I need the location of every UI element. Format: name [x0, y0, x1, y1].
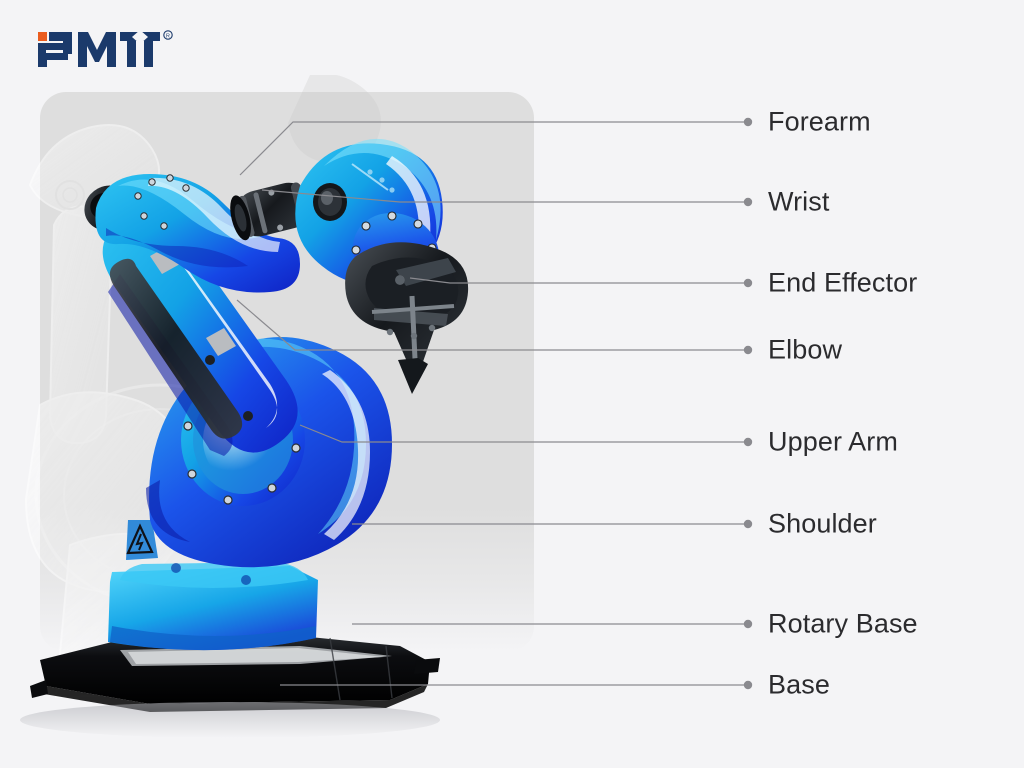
callout-label-wrist: Wrist	[768, 189, 830, 216]
callout-label-rotary-base: Rotary Base	[768, 611, 918, 638]
callout-bullet-wrist	[744, 198, 752, 206]
callout-label-end-effector: End Effector	[768, 270, 917, 297]
callout-bullet-base	[744, 681, 752, 689]
callout-label-shoulder: Shoulder	[768, 511, 877, 538]
robot-arm-illustration	[0, 60, 560, 760]
logo-orange-square	[38, 32, 47, 41]
callout-bullet-end-effector	[744, 279, 752, 287]
svg-text:R: R	[166, 34, 170, 40]
callout-bullet-forearm	[744, 118, 752, 126]
callout-bullet-rotary-base	[744, 620, 752, 628]
callout-label-base: Base	[768, 672, 830, 699]
callout-label-elbow: Elbow	[768, 337, 842, 364]
callout-bullet-elbow	[744, 346, 752, 354]
callout-bullet-shoulder	[744, 520, 752, 528]
robot-base	[20, 636, 440, 738]
callout-bullet-upper-arm	[744, 438, 752, 446]
diagram-canvas: R	[0, 0, 1024, 768]
callout-label-forearm: Forearm	[768, 109, 871, 136]
callout-label-upper-arm: Upper Arm	[768, 429, 898, 456]
